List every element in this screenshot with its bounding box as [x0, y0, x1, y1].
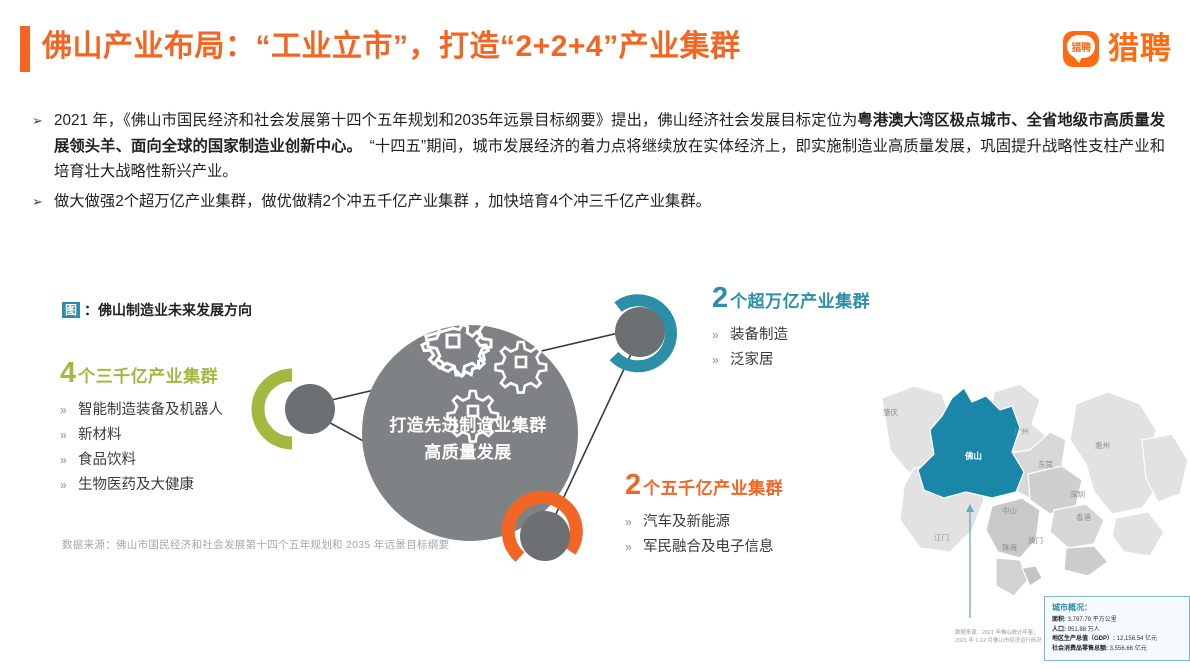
- node-green: [258, 375, 335, 443]
- node-dot-orange: [520, 511, 570, 561]
- list-item: »生物医药及大健康: [60, 473, 223, 498]
- liepin-logo-icon: 猎聘: [1063, 31, 1099, 67]
- list-item-label: 军民融合及电子信息: [643, 535, 774, 560]
- title-accent-bar: [20, 26, 30, 72]
- map-city-label-hongkong: 香港: [1076, 512, 1091, 523]
- map-city-label-zhongshan: 中山: [1002, 505, 1017, 516]
- map-city-label-jiangmen: 江门: [934, 532, 949, 543]
- bullet-item: ➢ 2021 年，《佛山市国民经济和社会发展第十四个五年规划和2035年远景目标…: [30, 108, 1165, 185]
- map-city-label-huizhou: 惠州: [1095, 440, 1110, 451]
- chevron-double-icon: »: [712, 323, 730, 348]
- list-item: »新材料: [60, 423, 223, 448]
- list-item-label: 汽车及新能源: [643, 510, 730, 535]
- map-city-label-foshan: 佛山: [965, 450, 982, 462]
- chevron-double-icon: »: [625, 535, 643, 560]
- list-item-label: 泛家居: [730, 348, 774, 373]
- map-city-label-zhaoqing: 肇庆: [883, 407, 898, 418]
- cluster-number: 2: [625, 470, 641, 500]
- node-teal: [614, 300, 671, 366]
- list-item: »智能制造装备及机器人: [60, 398, 223, 423]
- map-source-note: 数据来源：2021 年佛山统计年鉴； 2021 年 1-12 月佛山市经济运行简…: [955, 629, 1045, 645]
- cluster-number: 4: [60, 358, 76, 388]
- bullet-item: ➢ 做大做强2个超万亿产业集群，做优做精2个冲五千亿产业集群 ，加快培育4个冲三…: [30, 189, 1165, 215]
- cluster-heading: 4 个三千亿产业集群: [60, 358, 223, 388]
- map-region-hongkong: [1064, 546, 1108, 576]
- figure-caption-badge: 图: [62, 302, 80, 318]
- list-item-label: 新材料: [78, 423, 122, 448]
- map-city-label-dongguan: 东莞: [1038, 459, 1053, 470]
- cluster-heading: 2 个超万亿产业集群: [712, 283, 870, 313]
- row-key: 地区生产总值（GDP）:: [1052, 636, 1115, 642]
- cluster-label: 个三千亿产业集群: [78, 366, 218, 388]
- logo-mark-text: 猎聘: [1067, 35, 1095, 58]
- row-key: 社会消费品零售总额:: [1052, 646, 1108, 652]
- map-region-southeast: [1112, 512, 1164, 556]
- cluster-number: 2: [712, 283, 728, 313]
- cluster-group-orange: 2 个五千亿产业集群 »汽车及新能源 »军民融合及电子信息: [625, 470, 783, 560]
- list-item: »食品饮料: [60, 448, 223, 473]
- cluster-label: 个五千亿产业集群: [643, 478, 783, 500]
- bullet-arrow-icon: ➢: [30, 189, 54, 214]
- row-value: 951.88 万人: [1066, 627, 1100, 633]
- figure-source-note: 数据来源：佛山市国民经济和社会发展第十四个五年规划和 2035 年远景目标纲要: [62, 537, 449, 552]
- bullet-list: ➢ 2021 年，《佛山市国民经济和社会发展第十四个五年规划和2035年远景目标…: [30, 108, 1165, 218]
- list-item: »汽车及新能源: [625, 510, 783, 535]
- cluster-group-teal: 2 个超万亿产业集群 »装备制造 »泛家居: [712, 283, 870, 373]
- cluster-item-list: »智能制造装备及机器人 »新材料 »食品饮料 »生物医药及大健康: [60, 398, 223, 498]
- list-item: »军民融合及电子信息: [625, 535, 783, 560]
- cluster-item-list: »装备制造 »泛家居: [712, 323, 870, 373]
- row-key: 人口:: [1052, 627, 1066, 633]
- cluster-item-list: »汽车及新能源 »军民融合及电子信息: [625, 510, 783, 560]
- row-value: 3,556.66 亿元: [1108, 646, 1147, 652]
- list-item-label: 食品饮料: [78, 448, 136, 473]
- city-overview-row: 人口: 951.88 万人: [1052, 626, 1182, 636]
- cluster-group-green: 4 个三千亿产业集群 »智能制造装备及机器人 »新材料 »食品饮料 »生物医药及…: [60, 358, 223, 498]
- node-dot-teal: [615, 307, 665, 357]
- list-item-label: 智能制造装备及机器人: [78, 398, 223, 423]
- bullet-text: 2021 年，《佛山市国民经济和社会发展第十四个五年规划和2035年远景目标纲要…: [54, 108, 1165, 185]
- list-item: »泛家居: [712, 348, 870, 373]
- chevron-double-icon: »: [625, 510, 643, 535]
- chevron-double-icon: »: [60, 423, 78, 448]
- row-value: 3,797.79 平方公里: [1066, 617, 1117, 623]
- list-item: »装备制造: [712, 323, 870, 348]
- bullet-text: 做大做强2个超万亿产业集群，做优做精2个冲五千亿产业集群 ，加快培育4个冲三千亿…: [54, 189, 711, 215]
- row-key: 面积:: [1052, 617, 1066, 623]
- map-city-label-shenzhen: 深圳: [1070, 489, 1085, 500]
- map-region-shenzhen: [1050, 504, 1104, 548]
- chevron-double-icon: »: [60, 398, 78, 423]
- city-overview-row: 面积: 3,797.79 平方公里: [1052, 616, 1182, 626]
- page-header: 佛山产业布局：“工业立市”，打造“2+2+4”产业集群 猎聘 猎聘: [0, 22, 1190, 82]
- chevron-double-icon: »: [60, 448, 78, 473]
- map-city-label-macau: 澳门: [1028, 535, 1043, 546]
- node-dot-green: [285, 384, 335, 434]
- map-city-label-guangzhou: 广州: [1014, 426, 1029, 437]
- city-overview-row: 社会消费品零售总额: 3,556.66 亿元: [1052, 645, 1182, 655]
- map-city-label-zhuhai: 珠海: [1002, 542, 1017, 553]
- cluster-heading: 2 个五千亿产业集群: [625, 470, 783, 500]
- chevron-double-icon: »: [712, 348, 730, 373]
- map-region-zhuhai: [996, 558, 1028, 596]
- city-overview-title: 城市概况：: [1052, 602, 1182, 613]
- bullet-arrow-icon: ➢: [30, 108, 54, 133]
- map-svg: [880, 380, 1190, 630]
- cluster-label: 个超万亿产业集群: [730, 291, 870, 313]
- page-title: 佛山产业布局：“工业立市”，打造“2+2+4”产业集群: [42, 22, 741, 72]
- chevron-double-icon: »: [60, 473, 78, 498]
- logo-wordmark: 猎聘: [1108, 32, 1172, 66]
- city-overview-box: 城市概况： 面积: 3,797.79 平方公里 人口: 951.88 万人 地区…: [1044, 596, 1190, 661]
- figure-caption-text: ：佛山制造业未来发展方向: [84, 300, 252, 320]
- figure-caption: 图 ：佛山制造业未来发展方向: [62, 300, 252, 320]
- city-overview-row: 地区生产总值（GDP）: 12,156.54 亿元: [1052, 635, 1182, 645]
- bullet-seg: 2021 年，《佛山市国民经济和社会发展第十四个五年规划和2035年远景目标纲要…: [54, 112, 857, 129]
- list-item-label: 装备制造: [730, 323, 788, 348]
- center-circle: [362, 325, 578, 541]
- brand-logo: 猎聘 猎聘: [1063, 28, 1172, 70]
- list-item-label: 生物医药及大健康: [78, 473, 194, 498]
- row-value: 12,156.54 亿元: [1115, 636, 1157, 642]
